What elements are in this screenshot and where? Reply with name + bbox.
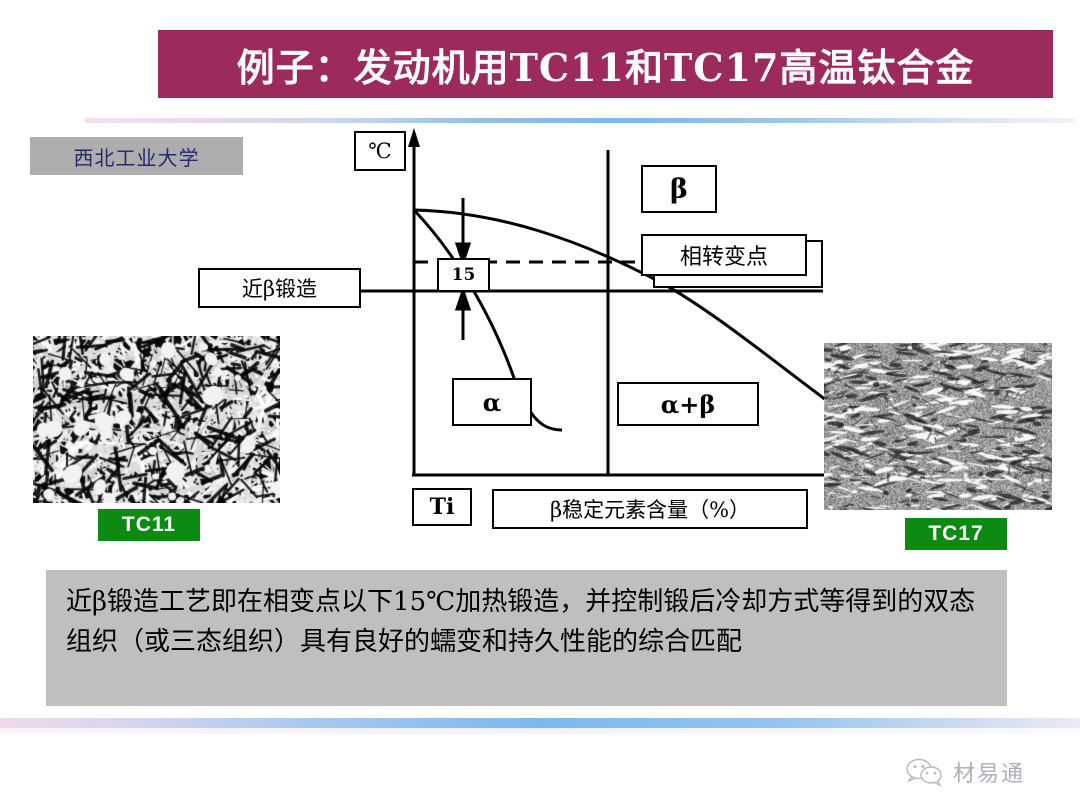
delta-arrow-down-icon: [457, 198, 469, 262]
caption-panel: 近β锻造工艺即在相变点以下15℃加热锻造，并控制锻后冷却方式等得到的双态组织（或…: [46, 570, 1007, 706]
region-label-alpha: α: [452, 378, 532, 426]
x-axis-origin-label: Ti: [412, 488, 472, 526]
y-axis-unit-label: ℃: [354, 131, 406, 171]
bottom-divider: [0, 718, 1080, 728]
bottom-divider-fade: [0, 728, 1080, 734]
y-axis-arrow-icon: [408, 128, 420, 147]
caption-text: 近β锻造工艺即在相变点以下15℃加热锻造，并控制锻后冷却方式等得到的双态组织（或…: [66, 582, 991, 662]
x-axis-label: β稳定元素含量（%）: [492, 489, 808, 529]
near-beta-forging-label: 近β锻造: [198, 268, 361, 308]
micrograph-label-tc11: TC11: [98, 509, 200, 541]
micrograph-tc11: [33, 336, 280, 503]
university-badge: 西北工业大学: [30, 137, 243, 175]
transus-label: 相转变点: [641, 234, 807, 276]
micrograph-tc11-image: [33, 336, 280, 503]
top-divider: [85, 118, 1075, 123]
university-badge-label: 西北工业大学: [74, 142, 200, 171]
micrograph-tc17-image: [824, 343, 1052, 510]
region-label-beta: β: [641, 165, 717, 213]
watermark: 材易通: [905, 752, 1065, 792]
delta-arrow-up-icon: [457, 291, 469, 340]
slide-title-bar: 例子：发动机用TC11和TC17高温钛合金: [158, 30, 1053, 98]
slide-canvas: 例子：发动机用TC11和TC17高温钛合金 西北工业大学: [0, 0, 1080, 810]
wechat-icon: [905, 757, 945, 787]
watermark-label: 材易通: [953, 756, 1025, 788]
delta-temperature-label: 15: [437, 258, 490, 292]
micrograph-label-tc17: TC17: [905, 518, 1007, 550]
region-label-alpha-beta: α+β: [617, 382, 759, 426]
micrograph-tc17: [824, 343, 1052, 510]
page-title: 例子：发动机用TC11和TC17高温钛合金: [237, 37, 975, 92]
